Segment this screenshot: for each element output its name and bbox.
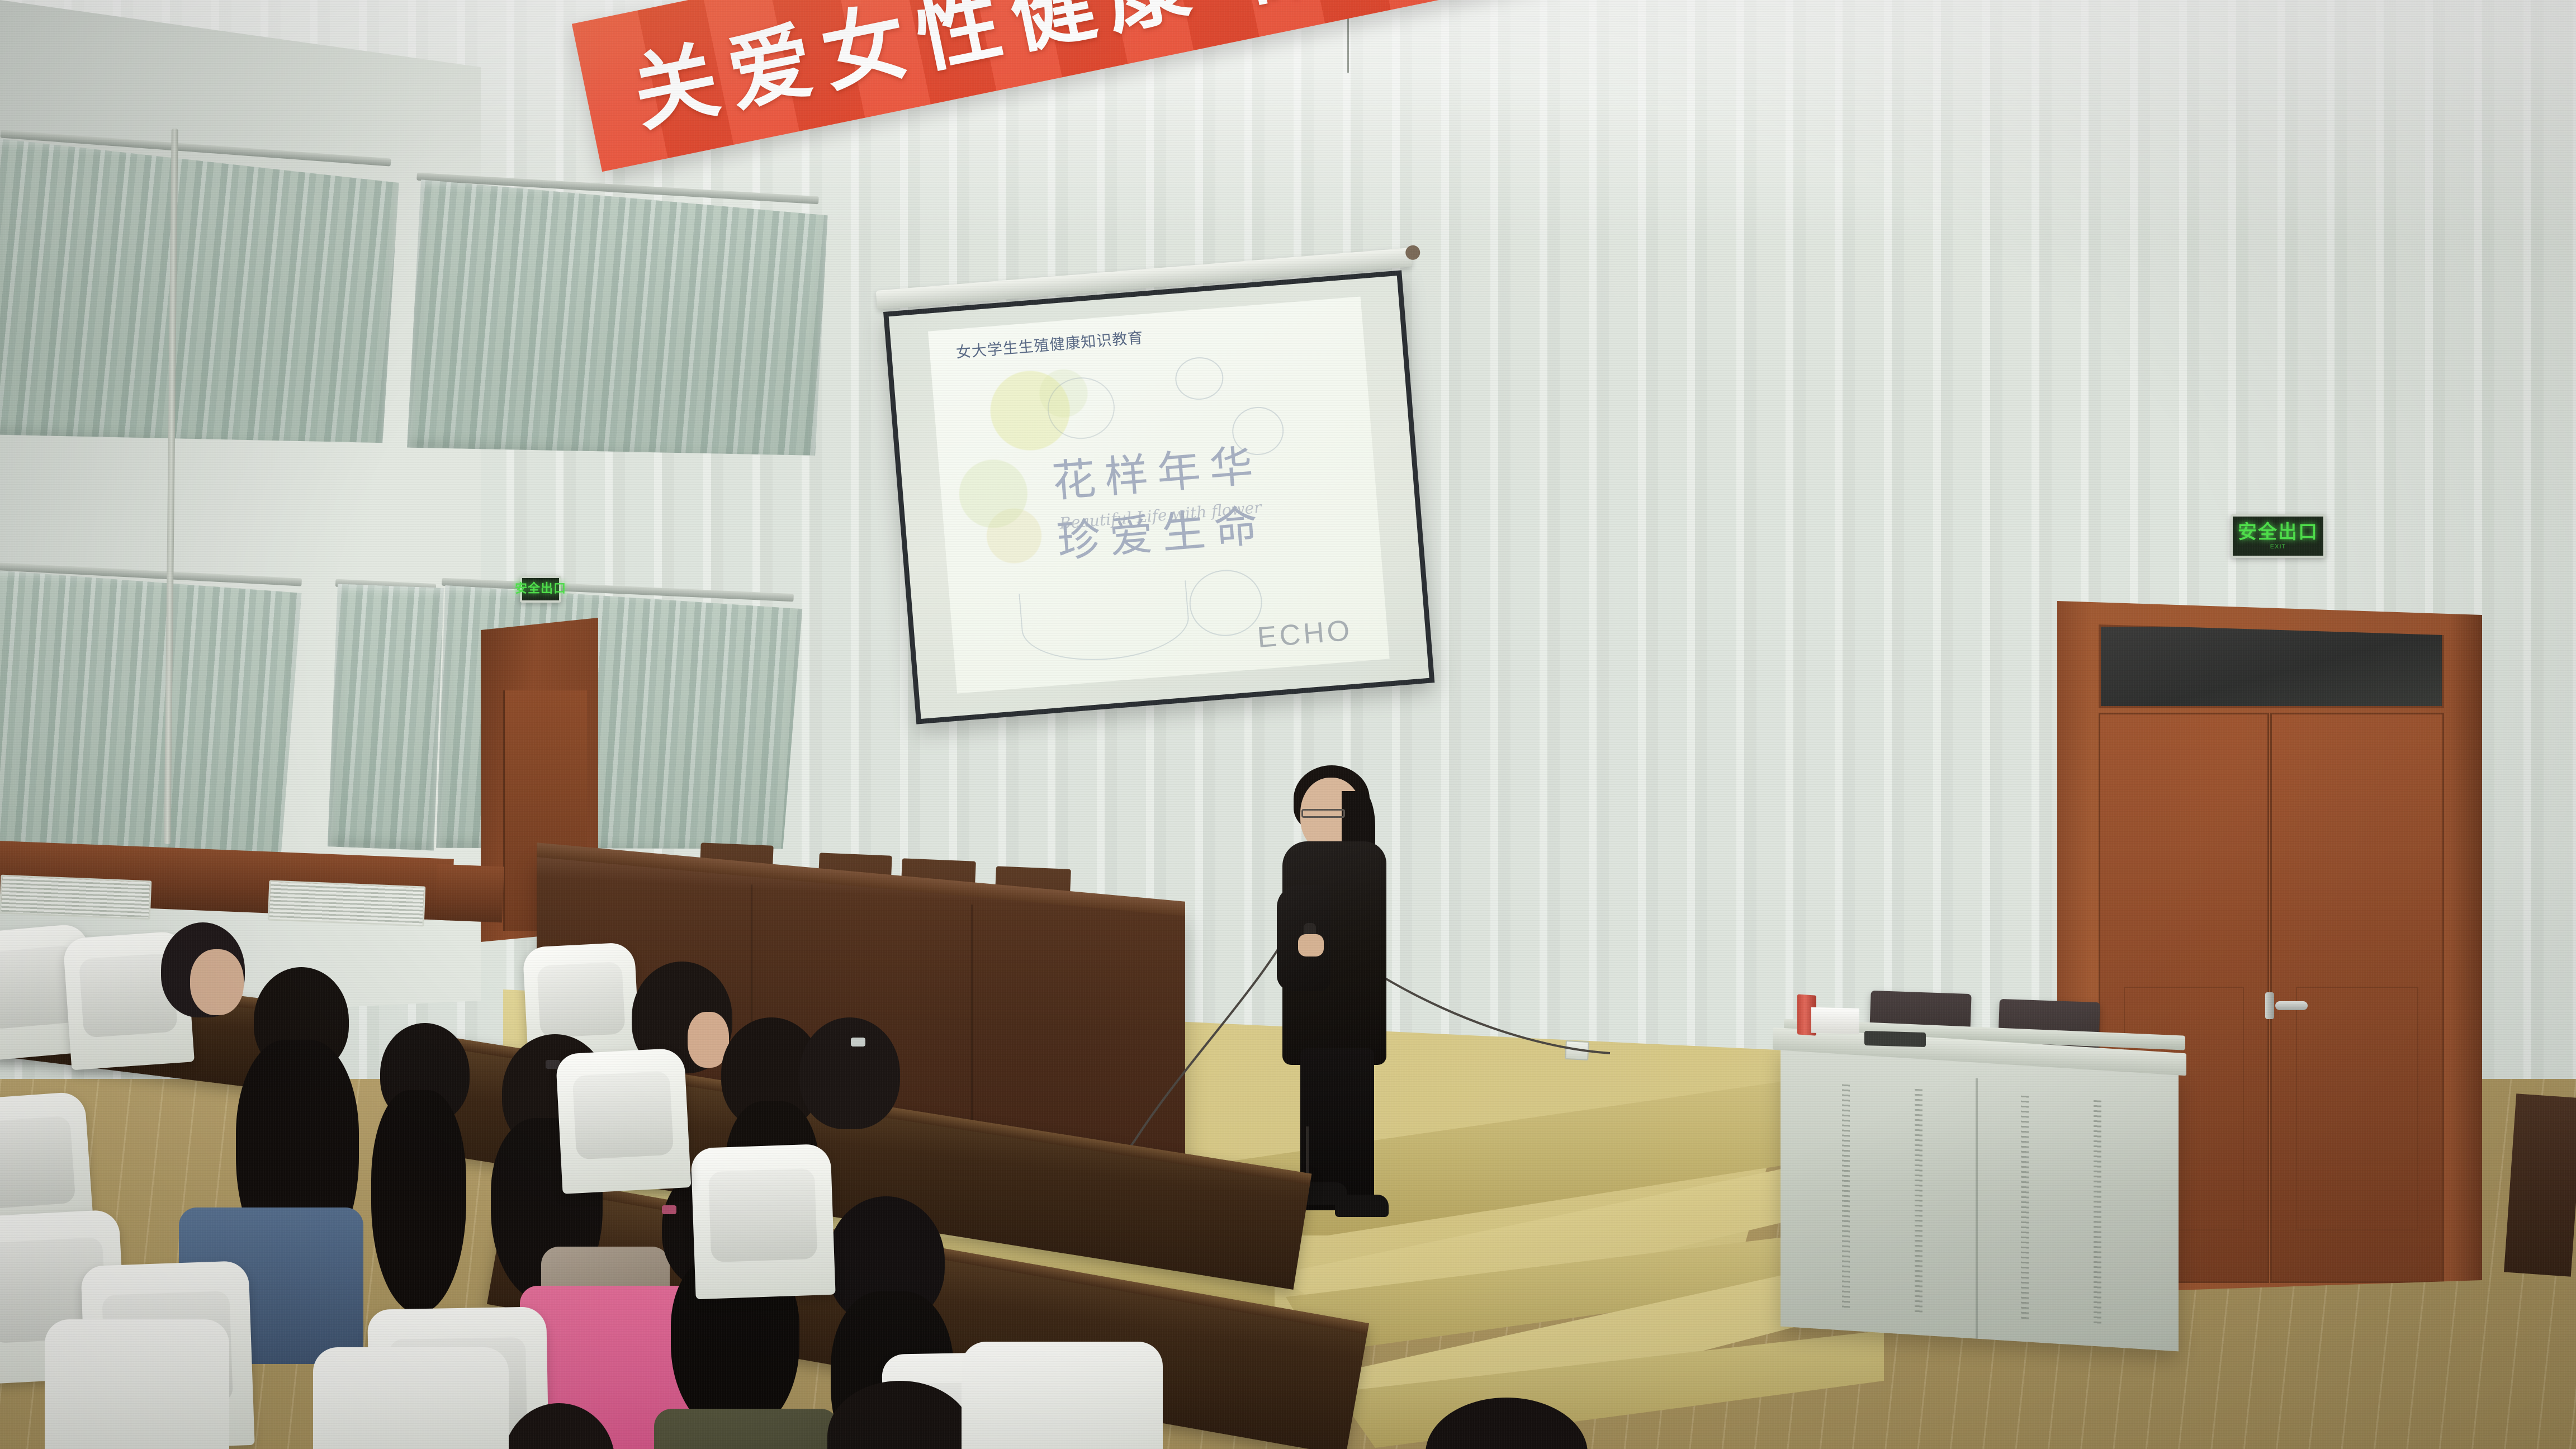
lecture-hall-photo: 安全出口 关爱女性健康 做阳光女大学生 女大学生生殖健康知识教育 花样年华 珍爱… — [0, 0, 2576, 1449]
radiator-grille-right — [268, 880, 426, 926]
console-vent-4 — [2094, 1100, 2101, 1324]
presentation-slide: 女大学生生殖健康知识教育 花样年华 珍爱生命 Beautiful Life wi… — [928, 297, 1389, 694]
seat-f7[interactable] — [556, 1048, 692, 1194]
presenter-shoe-right — [1335, 1195, 1389, 1217]
curtain-upper-left — [0, 139, 400, 460]
projector-screen: 女大学生生殖健康知识教育 花样年华 珍爱生命 Beautiful Life wi… — [883, 270, 1434, 724]
door-lock-plate[interactable] — [2265, 992, 2274, 1019]
exit-sign-left: 安全出口 — [520, 576, 561, 603]
presenter-hand — [1298, 934, 1324, 956]
person-head — [799, 1017, 900, 1129]
curtain-lower-mid — [328, 584, 444, 851]
paper-stack[interactable] — [1811, 1007, 1859, 1034]
curtain-upper-right — [407, 179, 828, 469]
right-wall-trim — [2504, 1093, 2576, 1277]
hair-clip-icon — [851, 1038, 865, 1046]
foreground-seat-3[interactable] — [962, 1342, 1163, 1449]
glasses-icon — [1301, 809, 1345, 818]
exit-sign-left-label: 安全出口 — [515, 583, 566, 595]
console-vent-2 — [1915, 1089, 1922, 1313]
seat-f5[interactable] — [690, 1144, 835, 1300]
person-head — [503, 1403, 615, 1449]
door-transom-window — [2099, 624, 2444, 708]
remote-control[interactable] — [1864, 1031, 1926, 1047]
door-leaf-right[interactable] — [2270, 713, 2444, 1283]
foreground-seat-2[interactable] — [313, 1347, 509, 1449]
curtain-lower-left — [0, 570, 302, 883]
radiator-grille-left — [0, 875, 151, 920]
console-vent-1 — [1842, 1085, 1850, 1309]
av-console-cabinet[interactable] — [1781, 1047, 2179, 1352]
door-handle[interactable] — [2275, 1001, 2308, 1010]
exit-sign-right-label: 安全出口 — [2238, 523, 2318, 542]
exit-sign-right: 安全出口 EXIT — [2231, 514, 2326, 558]
audience-person-3 — [352, 1023, 492, 1314]
window-sill-right — [435, 864, 504, 923]
person-hair-long — [371, 1090, 466, 1314]
hair-clip-icon — [662, 1205, 676, 1214]
console-door-seam — [1976, 1078, 1978, 1339]
console-vent-3 — [2021, 1096, 2029, 1320]
projector-screen-surface: 女大学生生殖健康知识教育 花样年华 珍爱生命 Beautiful Life wi… — [889, 276, 1429, 719]
audience-person-12 — [492, 1403, 648, 1449]
audience-person-9 — [783, 1017, 906, 1163]
exit-sign-right-sub: EXIT — [2270, 543, 2286, 550]
foreground-seat-1[interactable] — [45, 1319, 229, 1449]
